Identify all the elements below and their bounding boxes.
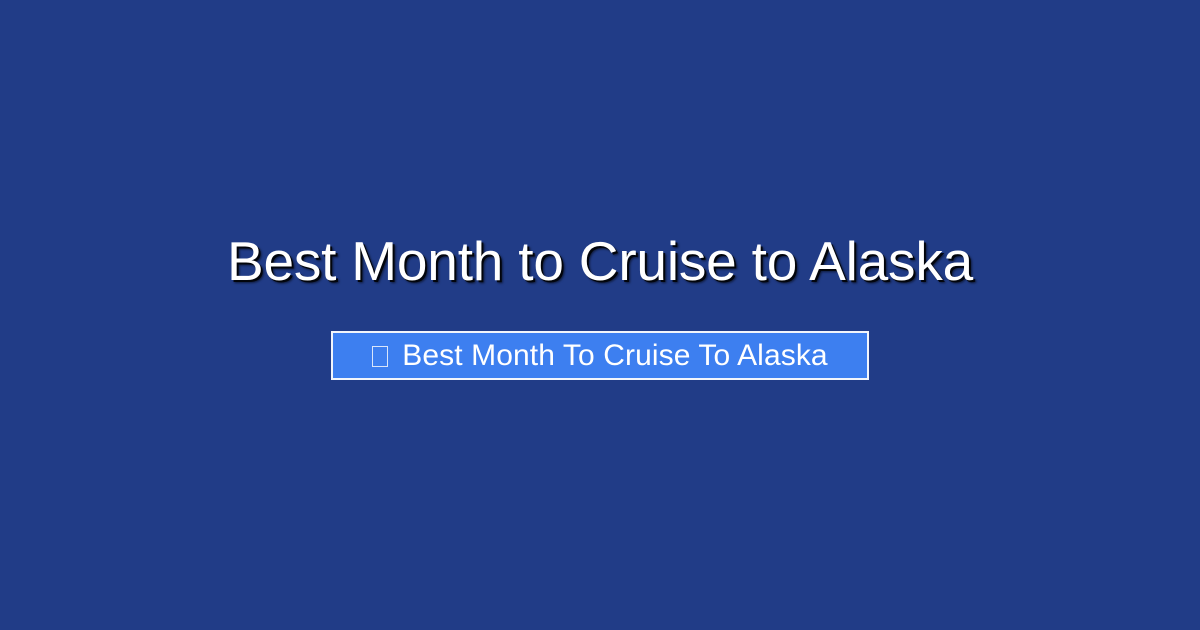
page-title: Best Month to Cruise to Alaska	[227, 232, 973, 290]
cta-button-label: Best Month To Cruise To Alaska	[402, 341, 827, 371]
cta-row: Best Month To Cruise To Alaska	[331, 331, 869, 380]
cta-button[interactable]: Best Month To Cruise To Alaska	[331, 331, 869, 380]
og-card: Best Month to Cruise to Alaska Best Mont…	[0, 0, 1200, 630]
missing-glyph-tofu-box-icon	[372, 346, 388, 367]
card-content: Best Month to Cruise to Alaska Best Mont…	[0, 0, 1200, 630]
